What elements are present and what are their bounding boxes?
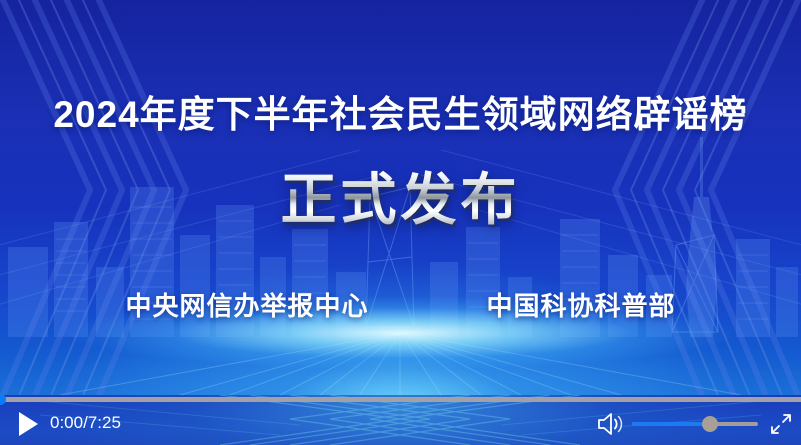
expand-arrows-icon[interactable] xyxy=(770,413,792,435)
organization-name: 中央网信办举报中心 xyxy=(125,286,368,323)
control-row: 0:00/7:25 xyxy=(0,402,801,445)
volume-slider[interactable] xyxy=(632,422,758,426)
volume-fill xyxy=(632,422,710,426)
time-display: 0:00/7:25 xyxy=(50,413,121,433)
play-button[interactable] xyxy=(16,411,40,437)
page-title: 2024年度下半年社会民生领域网络辟谣榜 xyxy=(0,92,801,138)
video-player[interactable]: 2024年度下半年社会民生领域网络辟谣榜 正式发布 中央网信办举报中心 中国科协… xyxy=(0,0,801,445)
video-poster-frame[interactable]: 2024年度下半年社会民生领域网络辟谣榜 正式发布 中央网信办举报中心 中国科协… xyxy=(0,0,801,395)
organization-list: 中央网信办举报中心 中国科协科普部 xyxy=(0,286,801,323)
player-control-bar[interactable]: 0:00/7:25 xyxy=(0,395,801,445)
organization-name: 中国科协科普部 xyxy=(487,286,676,323)
speaker-icon[interactable] xyxy=(597,413,623,435)
subtitle-announcement: 正式发布 xyxy=(0,166,801,234)
volume-handle[interactable] xyxy=(702,416,718,432)
poster-text-group: 2024年度下半年社会民生领域网络辟谣榜 正式发布 中央网信办举报中心 中国科协… xyxy=(0,0,801,395)
